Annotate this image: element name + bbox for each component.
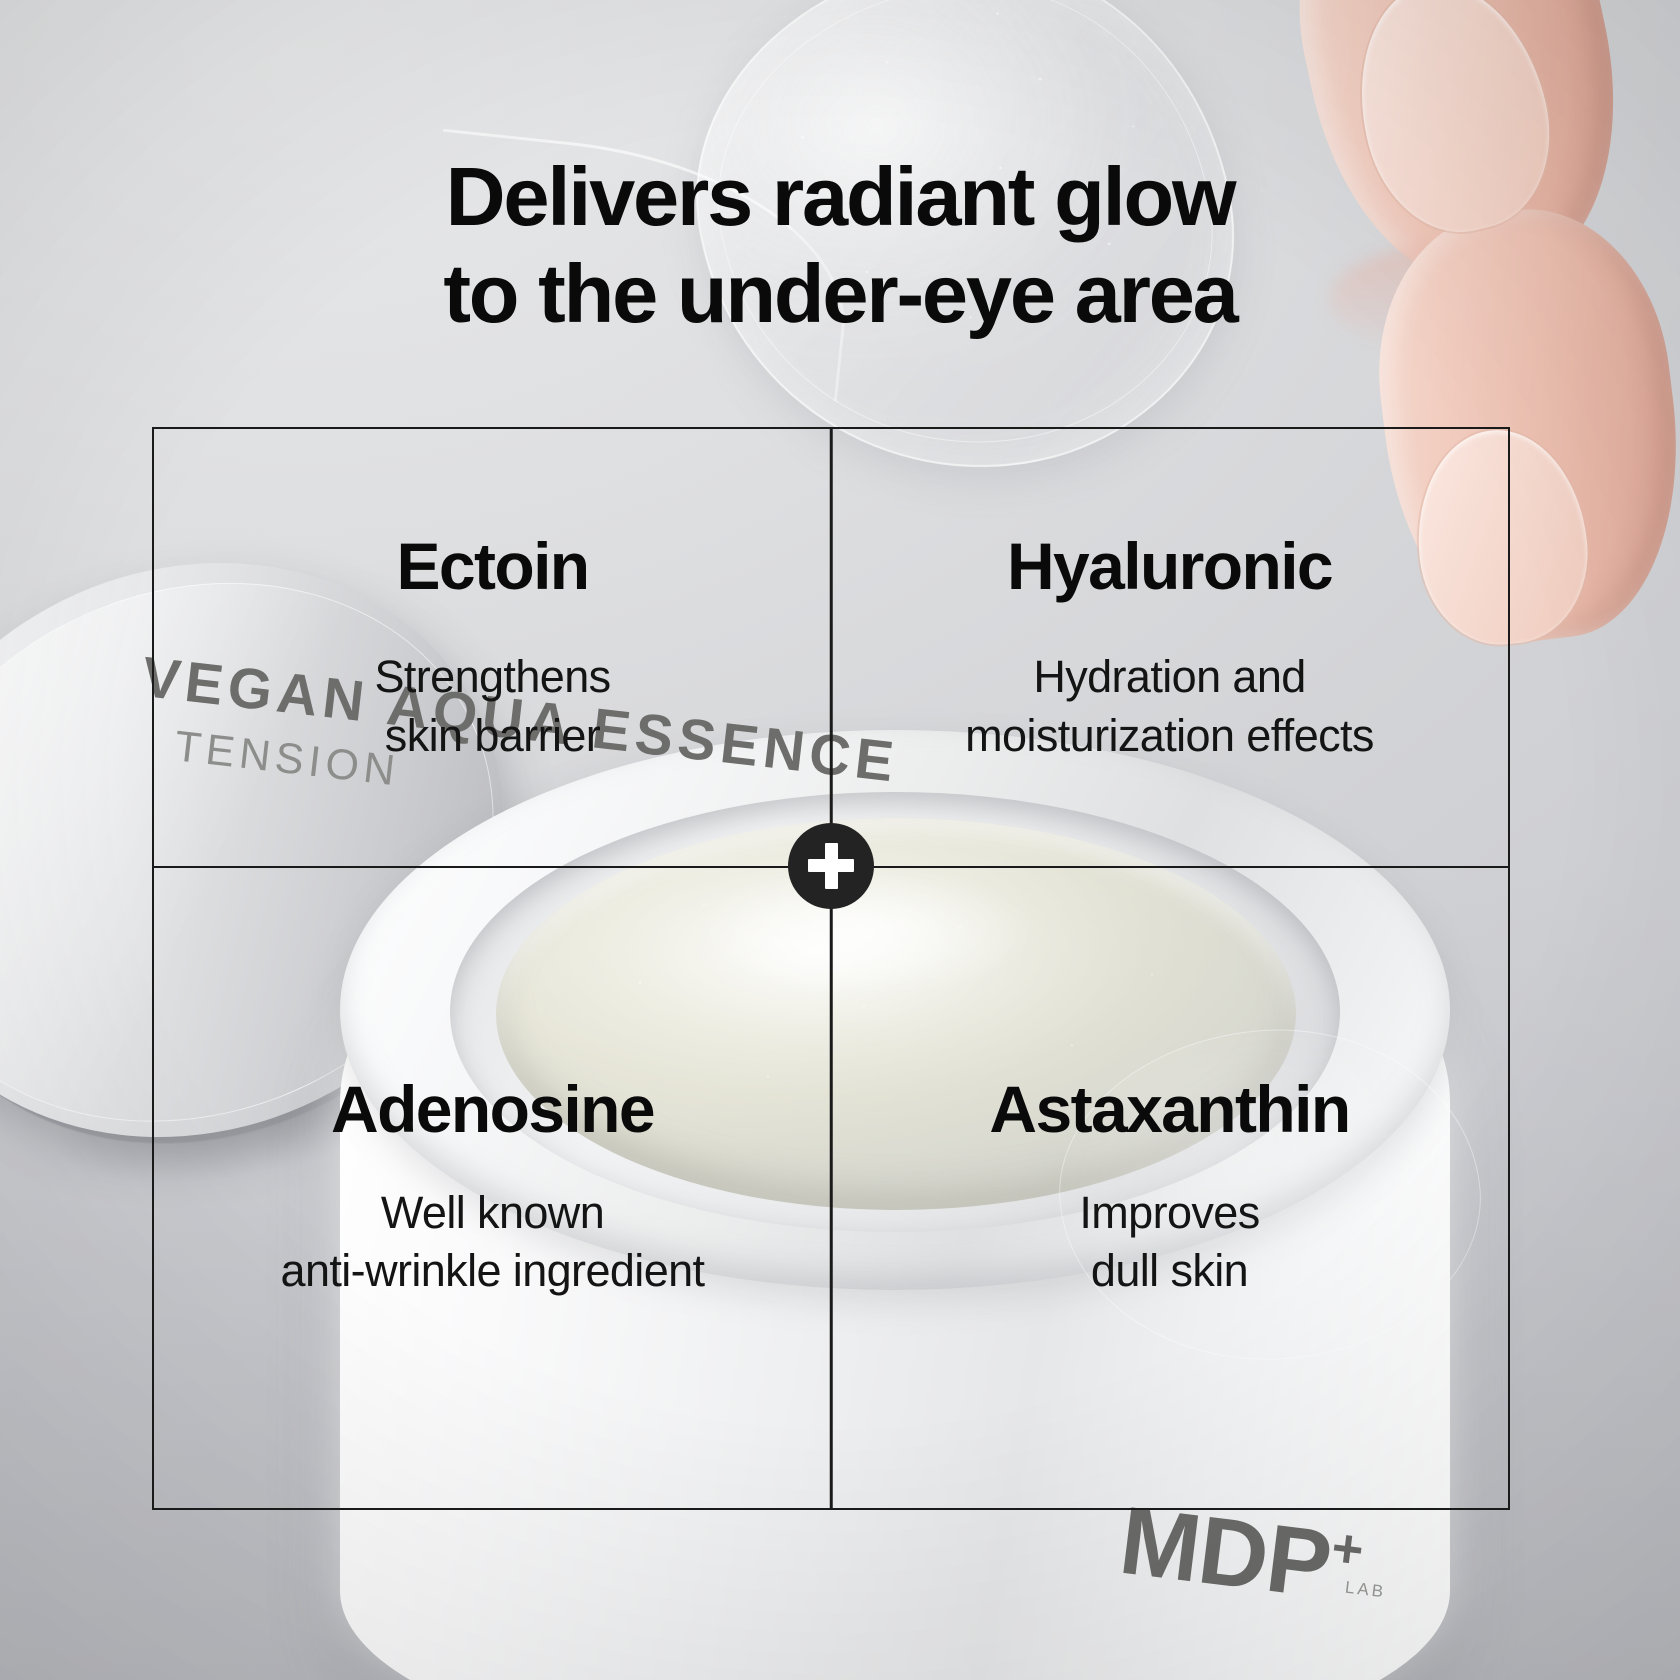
plus-icon: [788, 823, 874, 909]
ingredient-desc-line-2: skin barrier: [385, 710, 600, 761]
ingredient-desc-line-1: Improves: [1079, 1187, 1259, 1238]
headline-line-2: to the under-eye area: [0, 245, 1680, 342]
ingredient-cell-adenosine: Adenosine Well known anti-wrinkle ingred…: [154, 866, 831, 1508]
ingredient-cell-astaxanthin: Astaxanthin Improves dull skin: [831, 866, 1508, 1508]
ingredient-cell-hyaluronic: Hyaluronic Hydration and moisturization …: [831, 429, 1508, 866]
ingredient-description: Strengthens skin barrier: [374, 648, 610, 765]
headline-line-1: Delivers radiant glow: [0, 148, 1680, 245]
page-title: Delivers radiant glow to the under-eye a…: [0, 148, 1680, 342]
ingredient-cell-ectoin: Ectoin Strengthens skin barrier: [154, 429, 831, 866]
ingredient-desc-line-2: anti-wrinkle ingredient: [281, 1245, 705, 1296]
ingredient-description: Well known anti-wrinkle ingredient: [281, 1184, 705, 1301]
ingredient-desc-line-1: Well known: [381, 1187, 604, 1238]
ingredient-name: Adenosine: [331, 1073, 654, 1146]
ingredient-name: Hyaluronic: [1007, 530, 1332, 603]
ingredient-name: Ectoin: [396, 530, 588, 603]
plus-icon-vertical-bar: [825, 843, 838, 889]
ingredient-desc-line-1: Hydration and: [1033, 651, 1305, 702]
ingredient-desc-line-2: dull skin: [1091, 1245, 1248, 1296]
ingredient-description: Improves dull skin: [1079, 1184, 1259, 1301]
ingredient-name: Astaxanthin: [989, 1073, 1349, 1146]
content-overlay: Delivers radiant glow to the under-eye a…: [0, 0, 1680, 1680]
infographic-canvas: VEGAN AQUA ESSENCE TENSION MDP+ LAB Deli…: [0, 0, 1680, 1680]
ingredient-desc-line-1: Strengthens: [374, 651, 610, 702]
ingredient-description: Hydration and moisturization effects: [965, 648, 1374, 765]
ingredient-desc-line-2: moisturization effects: [965, 710, 1374, 761]
ingredient-grid: Ectoin Strengthens skin barrier Hyaluron…: [152, 427, 1510, 1510]
